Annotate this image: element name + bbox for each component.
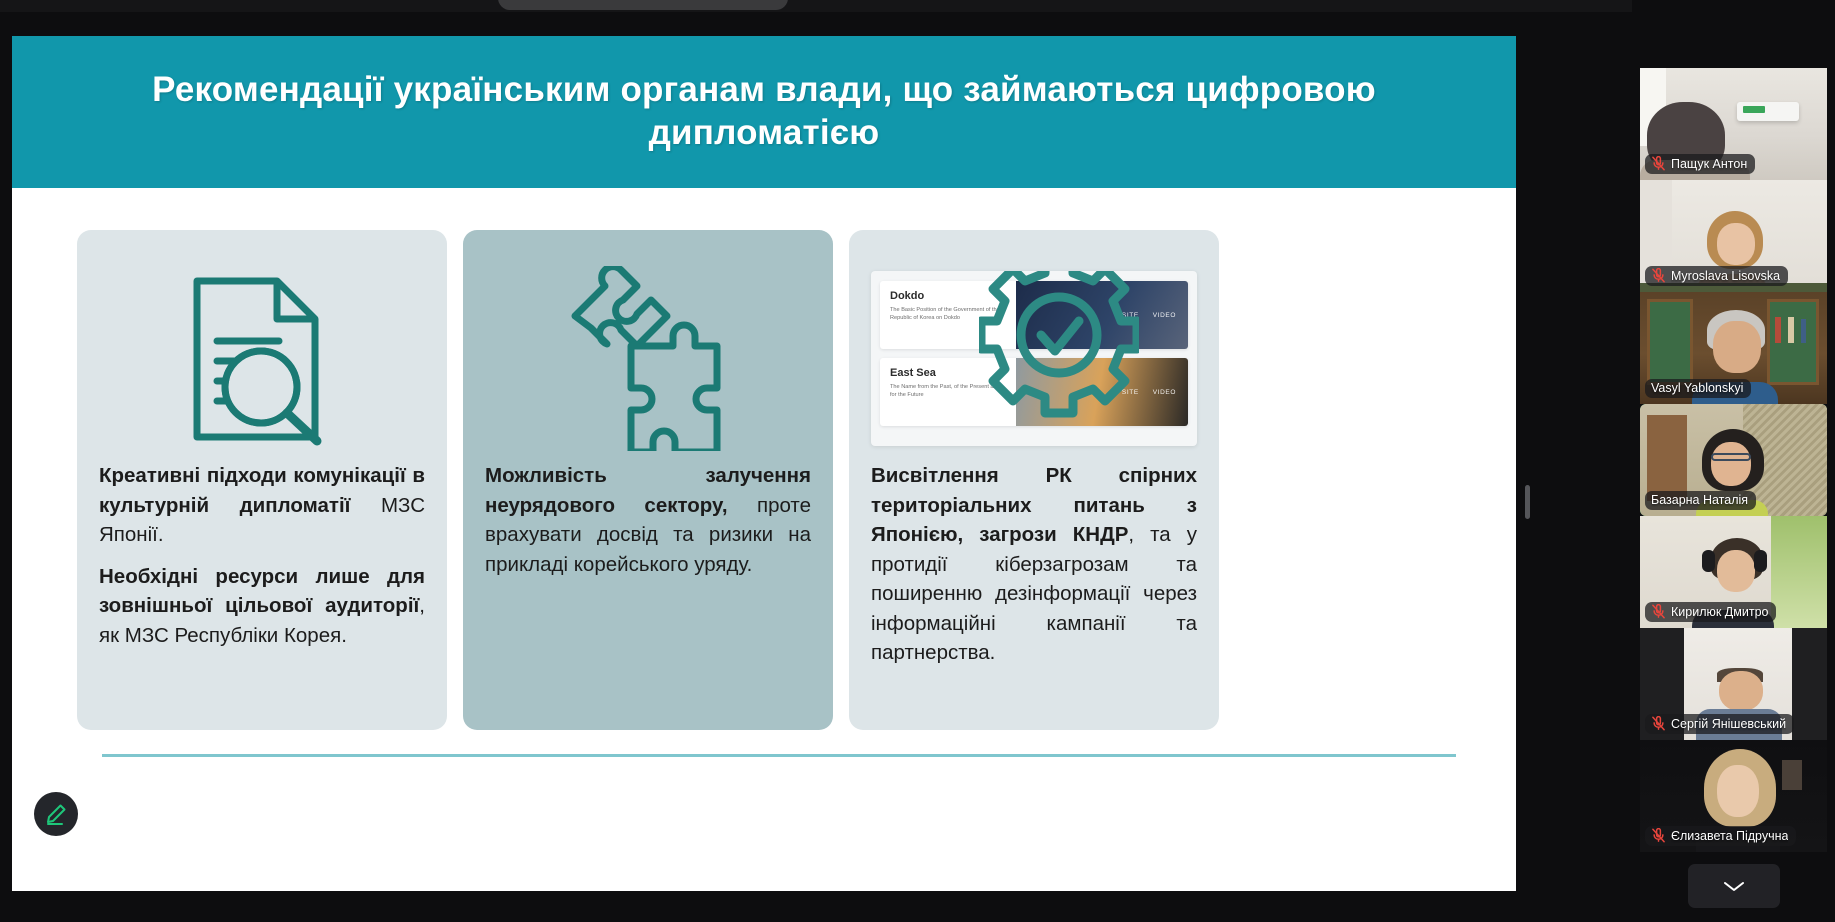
- participant-filmstrip: Пащук Антон Myroslava Lisovska: [1632, 0, 1835, 922]
- zoom-meeting-window: Рекомендації українським органам влади, …: [0, 0, 1835, 922]
- participant-name-chip: Кирилюк Дмитро: [1645, 602, 1776, 622]
- participant-tile[interactable]: Vasyl Yablonskyi: [1640, 292, 1827, 404]
- participant-name: Myroslava Lisovska: [1671, 269, 1780, 283]
- mini-row-subtitle: The Name from the Past, of the Present a…: [890, 383, 1006, 400]
- filmstrip-scroll-down-button[interactable]: [1688, 864, 1780, 908]
- mic-muted-icon: [1651, 828, 1666, 843]
- participant-tile[interactable]: Пащук Антон: [1640, 68, 1827, 180]
- mini-row-title: Dokdo: [890, 290, 1006, 302]
- mini-row-title: East Sea: [890, 367, 1006, 379]
- mini-row-east-sea: East Sea The Name from the Past, of the …: [880, 358, 1188, 426]
- gear-check-screenshot-icon: Dokdo The Basic Position of the Governme…: [871, 256, 1197, 461]
- mini-video-button[interactable]: VIDEO: [1153, 389, 1176, 396]
- card-text: Можливість залучення неурядового сектору…: [485, 461, 811, 591]
- participant-tile[interactable]: Myroslava Lisovska: [1640, 180, 1827, 292]
- participant-name: Vasyl Yablonskyi: [1651, 381, 1743, 395]
- mic-muted-icon: [1651, 716, 1666, 731]
- card-text: Висвітлення РК спірних територіальних пи…: [871, 461, 1197, 680]
- card-text: Креативні підходи комунікації в культурн…: [99, 461, 425, 662]
- participant-tile-active-speaker[interactable]: Базарна Наталія: [1640, 404, 1827, 516]
- mic-muted-icon: [1651, 156, 1666, 171]
- mini-row-subtitle: The Basic Position of the Government of …: [890, 306, 1006, 323]
- slide-title-bar: Рекомендації українським органам влади, …: [12, 36, 1516, 188]
- participant-name: Сергій Янішевський: [1671, 717, 1786, 731]
- slide-title: Рекомендації українським органам влади, …: [72, 69, 1456, 154]
- participant-name-chip: Пащук Антон: [1645, 154, 1755, 174]
- mic-muted-icon: [1651, 268, 1666, 283]
- mini-row-thumbnail: SITE VIDEO: [1016, 281, 1188, 349]
- card-creative-approaches: Креативні підходи комунікації в культурн…: [77, 230, 447, 730]
- mini-row-dokdo: Dokdo The Basic Position of the Governme…: [880, 281, 1188, 349]
- participant-name: Єлизавета Підручна: [1671, 829, 1788, 843]
- mini-site-button[interactable]: SITE: [1122, 312, 1139, 319]
- participant-name-chip: Myroslava Lisovska: [1645, 266, 1788, 286]
- document-magnifier-icon: [99, 256, 425, 461]
- share-resize-handle[interactable]: [1525, 485, 1530, 519]
- card-paragraph: Висвітлення РК спірних територіальних пи…: [871, 461, 1197, 668]
- participant-name: Базарна Наталія: [1651, 493, 1748, 507]
- slide-bottom-rule: [102, 754, 1456, 757]
- participant-tile[interactable]: Єлизавета Підручна: [1640, 740, 1827, 852]
- card-paragraph: Необхідні ресурси лише для зовнішньої ці…: [99, 562, 425, 651]
- participant-name-chip: Сергій Янішевський: [1645, 714, 1794, 734]
- puzzle-pieces-icon: [485, 256, 811, 461]
- mic-muted-icon: [1651, 604, 1666, 619]
- participant-name: Пащук Антон: [1671, 157, 1747, 171]
- participant-tile[interactable]: Кирилюк Дмитро: [1640, 516, 1827, 628]
- participant-name-chip: Єлизавета Підручна: [1645, 826, 1796, 846]
- card-ngo-sector: Можливість залучення неурядового сектору…: [463, 230, 833, 730]
- card-paragraph: Можливість залучення неурядового сектору…: [485, 461, 811, 579]
- card-paragraph: Креативні підходи комунікації в культурн…: [99, 461, 425, 550]
- card-territorial-issues: Dokdo The Basic Position of the Governme…: [849, 230, 1219, 730]
- pencil-icon: [44, 802, 68, 826]
- annotate-button[interactable]: [34, 792, 78, 836]
- participant-name: Кирилюк Дмитро: [1671, 605, 1768, 619]
- mini-screenshot: Dokdo The Basic Position of the Governme…: [871, 271, 1197, 446]
- mini-row-text: East Sea The Name from the Past, of the …: [880, 358, 1016, 426]
- participant-tile[interactable]: Сергій Янішевський: [1640, 628, 1827, 740]
- mini-video-button[interactable]: VIDEO: [1153, 312, 1176, 319]
- chevron-down-icon: [1721, 878, 1747, 894]
- shared-screen-slide: Рекомендації українським органам влади, …: [12, 36, 1516, 891]
- meeting-controls-pill[interactable]: [498, 0, 788, 10]
- mini-row-text: Dokdo The Basic Position of the Governme…: [880, 281, 1016, 349]
- mini-site-button[interactable]: SITE: [1122, 389, 1139, 396]
- slide-cards-row: Креативні підходи комунікації в культурн…: [12, 188, 1516, 730]
- participant-name-chip: Vasyl Yablonskyi: [1645, 379, 1751, 398]
- card-paragraph-bold: Необхідні ресурси лише для зовнішньої ці…: [99, 565, 425, 618]
- top-bar-strip: [0, 0, 1835, 12]
- mini-row-thumbnail: SITE VIDEO: [1016, 358, 1188, 426]
- participant-name-chip: Базарна Наталія: [1645, 491, 1756, 510]
